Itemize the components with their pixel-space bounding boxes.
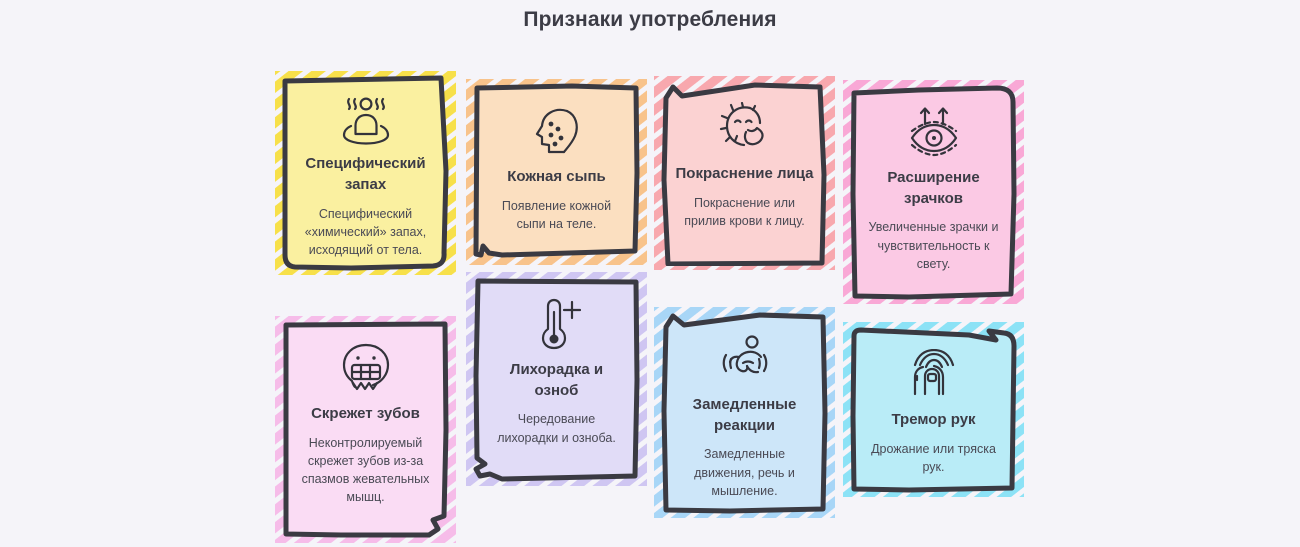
card-title: Специфический запах — [295, 154, 436, 195]
body-odor-icon — [334, 91, 398, 146]
card-description: Появление кожной сыпи на теле. — [486, 197, 627, 233]
symptom-card-hand-tremor[interactable]: Тремор рук Дрожание или тряска рук. — [849, 326, 1018, 493]
card-title: Покраснение лица — [676, 164, 814, 185]
card-title: Замедленные реакции — [674, 395, 815, 436]
card-content: Тремор рук Дрожание или тряска рук. — [849, 326, 1018, 493]
card-content: Скрежет зубов Неконтролируемый скрежет з… — [281, 320, 450, 539]
grinding-teeth-icon — [334, 336, 398, 398]
card-title: Лихорадка и озноб — [486, 360, 627, 401]
symptom-card-dilated-pupils[interactable]: Расширение зрачков Увеличенные зрачки и … — [849, 84, 1018, 300]
symptom-card-slowed-reactions[interactable]: Замедленные реакции Замедленные движения… — [660, 311, 829, 514]
symptom-card-facial-redness[interactable]: Покраснение лица Покраснение или прилив … — [660, 80, 829, 266]
card-title: Скрежет зубов — [311, 404, 420, 425]
card-content: Расширение зрачков Увеличенные зрачки и … — [849, 84, 1018, 300]
thermometer-plus-icon — [525, 292, 589, 354]
flushed-face-icon — [713, 96, 777, 158]
card-description: Чередование лихорадки и озноба. — [486, 410, 627, 446]
card-description: Увеличенные зрачки и чувствительность к … — [863, 218, 1004, 272]
slow-runner-icon — [713, 327, 777, 389]
card-content: Кожная сыпь Появление кожной сыпи на тел… — [472, 83, 641, 261]
dilated-eye-icon — [902, 100, 966, 162]
card-content: Покраснение лица Покраснение или прилив … — [660, 80, 829, 266]
card-description: Покраснение или прилив крови к лицу. — [674, 194, 815, 230]
card-content: Лихорадка и озноб Чередование лихорадки … — [472, 276, 641, 482]
card-description: Неконтролируемый скрежет зубов из-за спа… — [295, 434, 436, 507]
card-title: Расширение зрачков — [863, 168, 1004, 209]
card-description: Замедленные движения, речь и мышление. — [674, 445, 815, 499]
card-content: Замедленные реакции Замедленные движения… — [660, 311, 829, 514]
card-description: Специфический «химический» запах, исходя… — [295, 205, 436, 259]
symptom-card-fever-chills[interactable]: Лихорадка и озноб Чередование лихорадки … — [472, 276, 641, 482]
symptom-card-grid: Специфический запах Специфический «химич… — [0, 0, 1300, 546]
shaking-hands-icon — [902, 342, 966, 404]
symptom-card-teeth-grinding[interactable]: Скрежет зубов Неконтролируемый скрежет з… — [281, 320, 450, 539]
symptom-card-specific-smell[interactable]: Специфический запах Специфический «химич… — [281, 75, 450, 271]
symptom-card-skin-rash[interactable]: Кожная сыпь Появление кожной сыпи на тел… — [472, 83, 641, 261]
card-content: Специфический запах Специфический «химич… — [281, 75, 450, 271]
head-rash-icon — [525, 99, 589, 161]
card-title: Тремор рук — [891, 410, 975, 431]
card-description: Дрожание или тряска рук. — [863, 440, 1004, 476]
card-title: Кожная сыпь — [507, 167, 606, 188]
